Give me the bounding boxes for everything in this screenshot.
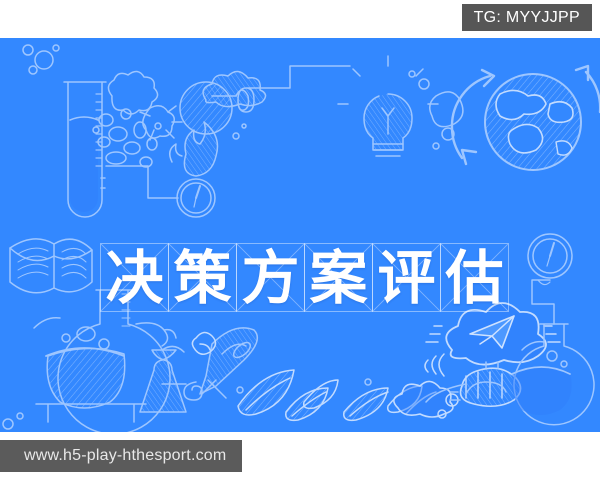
flame-icon bbox=[170, 122, 218, 176]
title-character: 策 bbox=[169, 244, 236, 311]
decorative-line-art bbox=[0, 38, 600, 432]
title-cell: 评 bbox=[372, 243, 441, 312]
small-cloud-icon bbox=[394, 381, 458, 418]
poster-image: 决 策 方 bbox=[0, 0, 600, 480]
title-cell: 方 bbox=[236, 243, 305, 312]
title-character: 估 bbox=[441, 244, 508, 311]
bubbles-icon bbox=[23, 45, 59, 74]
title-character: 方 bbox=[237, 244, 304, 311]
title-cell: 案 bbox=[304, 243, 373, 312]
spiral-bulb-icon bbox=[450, 368, 521, 406]
poster-canvas: 决 策 方 bbox=[0, 38, 600, 432]
cells-cluster-icon bbox=[93, 71, 182, 167]
open-book-icon bbox=[10, 239, 92, 293]
pressure-gauge-icon bbox=[177, 179, 215, 217]
swirl-icon bbox=[425, 354, 444, 376]
site-watermark: www.h5-play-hthesport.com bbox=[0, 440, 242, 472]
title-cell: 估 bbox=[440, 243, 509, 312]
paper-plane-cloud-icon bbox=[426, 303, 560, 365]
test-tube-icon bbox=[64, 82, 106, 217]
fountain-pen-icon bbox=[200, 328, 257, 398]
dots-icon bbox=[233, 124, 246, 139]
poster-title: 决 策 方 bbox=[100, 243, 514, 312]
pipe-left-icon bbox=[106, 166, 178, 198]
title-cell: 策 bbox=[168, 243, 237, 312]
title-cell: 决 bbox=[100, 243, 169, 312]
title-character: 决 bbox=[101, 244, 168, 311]
tg-badge: TG: MYYJJPP bbox=[462, 4, 592, 31]
globe-icon bbox=[485, 74, 581, 170]
title-character: 案 bbox=[305, 244, 372, 311]
spiral-icon bbox=[184, 382, 202, 400]
cloud-icon bbox=[203, 71, 265, 106]
pressure-gauge-right-icon bbox=[528, 234, 572, 324]
title-character: 评 bbox=[373, 244, 440, 311]
lightbulb-icon bbox=[338, 56, 438, 156]
